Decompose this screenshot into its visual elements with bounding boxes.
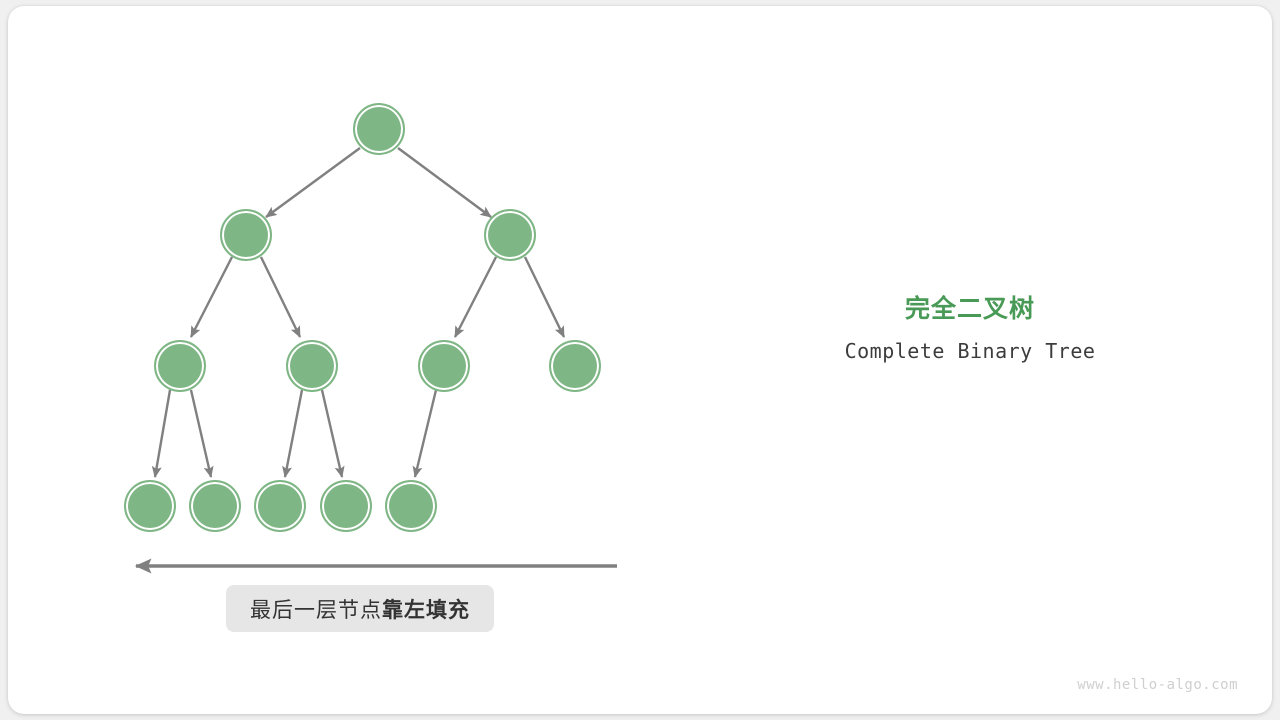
edge-n0-n1	[266, 148, 360, 217]
edge-n0-n2	[398, 148, 491, 217]
tree-node-l3-4[interactable]	[385, 480, 437, 532]
fill-direction-caption: 最后一层节点靠左填充	[226, 585, 494, 632]
diagram-canvas: 完全二叉树 Complete Binary Tree 最后一层节点靠左填充 ww…	[0, 0, 1280, 720]
tree-node-l2-0[interactable]	[154, 340, 206, 392]
tree-node-root[interactable]	[353, 103, 405, 155]
tree-node-l1-0[interactable]	[220, 209, 272, 261]
watermark: www.hello-algo.com	[1077, 677, 1238, 693]
page-title-en: Complete Binary Tree	[760, 338, 1180, 364]
edge-n2-n5	[455, 257, 496, 337]
tree-edges	[155, 148, 564, 477]
edge-n2-n6	[525, 257, 564, 337]
tree-node-l3-1[interactable]	[189, 480, 241, 532]
tree-node-l1-1[interactable]	[484, 209, 536, 261]
edge-n3-n7	[155, 390, 170, 477]
edge-n4-n9	[285, 390, 302, 477]
edge-n1-n4	[261, 257, 300, 337]
tree-node-l3-3[interactable]	[320, 480, 372, 532]
edge-n1-n3	[191, 257, 232, 337]
edge-n5-n11	[415, 390, 436, 477]
caption-bold-text: 靠左填充	[382, 594, 470, 624]
tree-node-l2-3[interactable]	[549, 340, 601, 392]
edge-n4-n10	[322, 390, 342, 477]
tree-node-l2-2[interactable]	[418, 340, 470, 392]
tree-node-l3-2[interactable]	[254, 480, 306, 532]
tree-node-l2-1[interactable]	[286, 340, 338, 392]
edge-n3-n8	[191, 390, 211, 477]
caption-normal-text: 最后一层节点	[250, 594, 382, 624]
title-block: 完全二叉树 Complete Binary Tree	[760, 292, 1180, 364]
tree-node-l3-0[interactable]	[124, 480, 176, 532]
page-title-cn: 完全二叉树	[760, 292, 1180, 326]
